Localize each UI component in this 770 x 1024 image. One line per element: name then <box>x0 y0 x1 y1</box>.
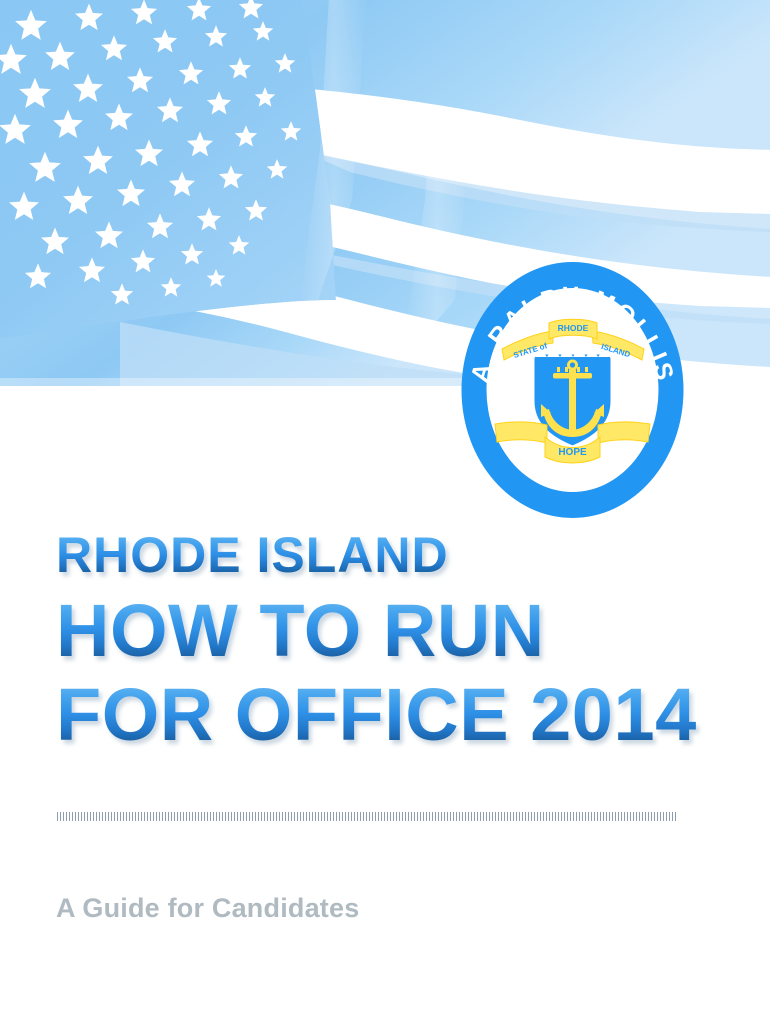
rhode-island-state-seal-icon: A. RALPH MOLLIS Secretary of State STATE… <box>461 261 684 519</box>
seal-banner-hope: HOPE <box>558 447 587 458</box>
secretary-of-state-seal: A. RALPH MOLLIS Secretary of State STATE… <box>461 261 684 519</box>
page-title: RHODE ISLAND HOW TO RUN FOR OFFICE 2014 <box>56 530 756 752</box>
title-line-how-to-run: HOW TO RUN <box>56 594 756 668</box>
seal-banner-rhode: RHODE <box>558 323 589 333</box>
cover-subtitle: A Guide for Candidates <box>56 893 359 924</box>
cover-page: A. RALPH MOLLIS Secretary of State STATE… <box>0 0 770 1024</box>
divider-rule <box>57 812 678 821</box>
title-line-rhode-island: RHODE ISLAND <box>56 530 756 580</box>
title-line-for-office-2014: FOR OFFICE 2014 <box>56 678 756 752</box>
